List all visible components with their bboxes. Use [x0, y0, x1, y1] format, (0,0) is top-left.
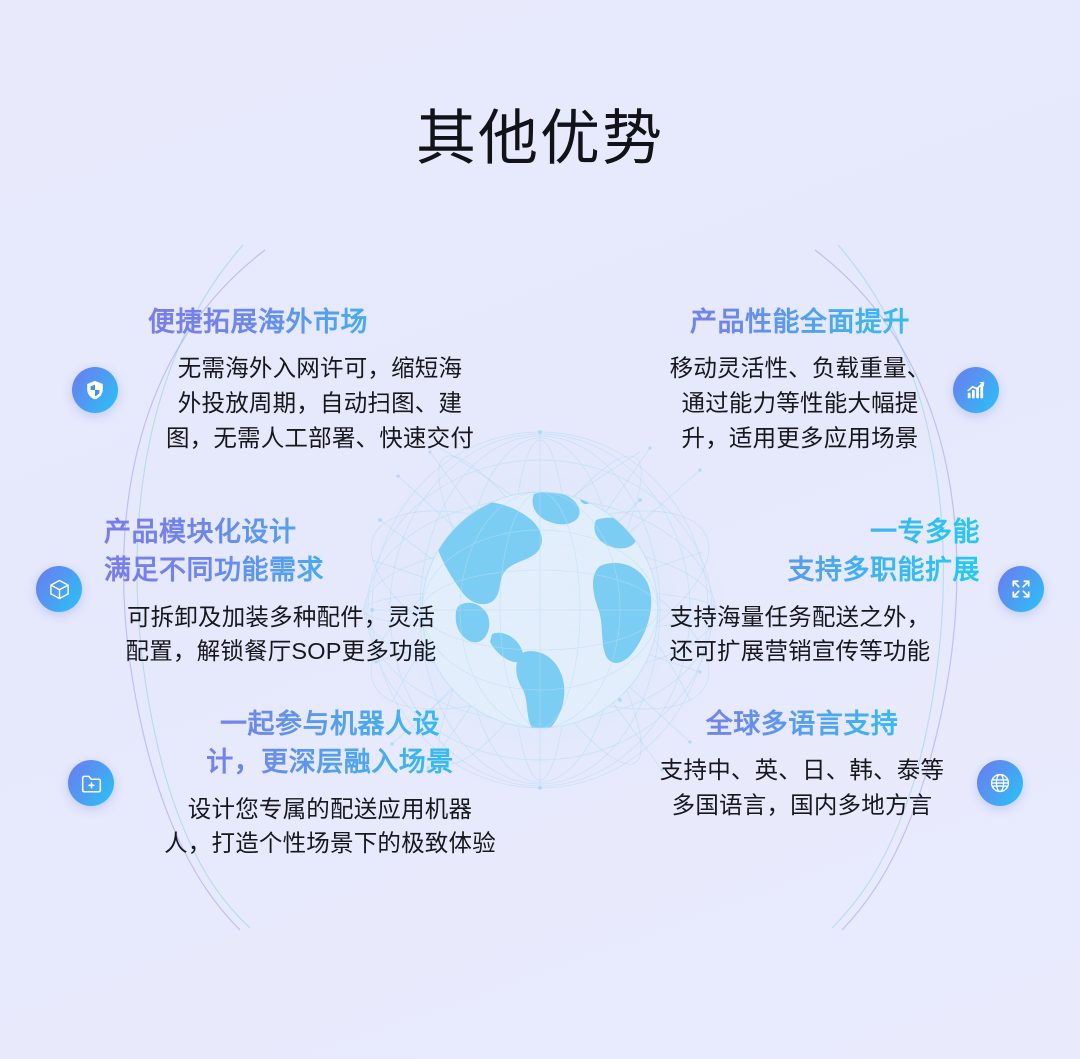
- feature-block-co-design: 一起参与机器人设 计，更深层融入场景 设计您专属的配送应用机器 人，打造个性场景…: [130, 705, 530, 861]
- feature-body-multi-function: 支持海量任务配送之外， 还可扩展营销宣传等功能: [620, 600, 980, 670]
- feature-icon-badge-overseas-market: [72, 367, 118, 413]
- expand-arrows-icon: [1010, 578, 1032, 600]
- globe-icon: [989, 772, 1011, 794]
- page-title: 其他优势: [0, 104, 1080, 175]
- feature-block-product-performance: 产品性能全面提升 移动灵活性、负载重量、 通过能力等性能大幅提 升，适用更多应用…: [620, 303, 980, 456]
- cube-icon: [48, 578, 71, 601]
- feature-block-overseas-market: 便捷拓展海外市场 无需海外入网许可，缩短海 外投放周期，自动扫图、建 图，无需人…: [140, 303, 500, 456]
- feature-title-overseas-market: 便捷拓展海外市场: [140, 303, 500, 341]
- feature-title-modular-design: 产品模块化设计 满足不同功能需求: [96, 513, 466, 590]
- feature-title-multi-language: 全球多语言支持: [622, 705, 982, 743]
- feature-block-multi-language: 全球多语言支持 支持中、英、日、韩、泰等 多国语言，国内多地方言: [622, 705, 982, 823]
- feature-icon-badge-product-performance: [953, 367, 999, 413]
- feature-icon-badge-co-design: [68, 760, 114, 806]
- feature-icon-badge-multi-function: [998, 566, 1044, 612]
- feature-block-modular-design: 产品模块化设计 满足不同功能需求 可拆卸及加装多种配件，灵活 配置，解锁餐厅SO…: [96, 513, 466, 669]
- feature-block-multi-function: 一专多能 支持多职能扩展 支持海量任务配送之外， 还可扩展营销宣传等功能: [620, 513, 980, 669]
- feature-icon-badge-modular-design: [36, 566, 82, 612]
- feature-body-modular-design: 可拆卸及加装多种配件，灵活 配置，解锁餐厅SOP更多功能: [96, 600, 466, 670]
- feature-title-co-design: 一起参与机器人设 计，更深层融入场景: [130, 705, 530, 782]
- feature-title-product-performance: 产品性能全面提升: [620, 303, 980, 341]
- feature-body-co-design: 设计您专属的配送应用机器 人，打造个性场景下的极致体验: [130, 792, 530, 862]
- infographic-canvas: 其他优势 便捷拓展海外市场 无需海外入网许可，缩短海 外投放周期，自动扫图、建 …: [0, 0, 1080, 1059]
- feature-icon-badge-multi-language: [977, 760, 1023, 806]
- feature-title-multi-function: 一专多能 支持多职能扩展: [620, 513, 980, 590]
- feature-body-multi-language: 支持中、英、日、韩、泰等 多国语言，国内多地方言: [622, 753, 982, 823]
- shield-icon: [84, 379, 106, 401]
- feature-body-overseas-market: 无需海外入网许可，缩短海 外投放周期，自动扫图、建 图，无需人工部署、快速交付: [140, 351, 500, 455]
- feature-body-product-performance: 移动灵活性、负载重量、 通过能力等性能大幅提 升，适用更多应用场景: [620, 351, 980, 455]
- growth-chart-icon: [965, 379, 987, 401]
- folder-plus-icon: [80, 772, 103, 795]
